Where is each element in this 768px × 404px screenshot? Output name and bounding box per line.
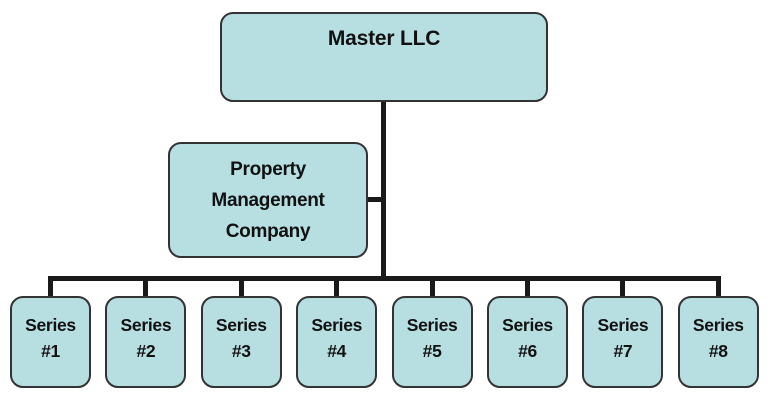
- connector-stub-series-1: [48, 276, 53, 298]
- connector-stub-series-8: [716, 276, 721, 298]
- node-master-llc-label: Master LLC: [328, 14, 440, 50]
- connector-stub-series-3: [239, 276, 244, 298]
- node-property-management-company[interactable]: PropertyManagementCompany: [168, 142, 368, 258]
- node-property-management-company-label: PropertyManagementCompany: [211, 154, 324, 247]
- connector-stub-series-6: [525, 276, 530, 298]
- node-series-1-label: Series#1: [25, 298, 76, 364]
- org-chart-canvas: Master LLC PropertyManagementCompany Ser…: [0, 0, 768, 404]
- node-series-7[interactable]: Series#7: [582, 296, 663, 388]
- node-series-3-label: Series#3: [216, 298, 267, 364]
- node-series-1[interactable]: Series#1: [10, 296, 91, 388]
- connector-stub-series-4: [334, 276, 339, 298]
- connector-trunk-vertical: [381, 100, 386, 281]
- connector-stub-series-7: [620, 276, 625, 298]
- connector-stub-series-2: [143, 276, 148, 298]
- node-series-7-label: Series#7: [598, 298, 649, 364]
- node-series-6-label: Series#6: [502, 298, 553, 364]
- node-series-2-label: Series#2: [121, 298, 172, 364]
- node-series-8-label: Series#8: [693, 298, 744, 364]
- connector-stub-series-5: [430, 276, 435, 298]
- node-series-5-label: Series#5: [407, 298, 458, 364]
- node-series-4[interactable]: Series#4: [296, 296, 377, 388]
- node-series-2[interactable]: Series#2: [105, 296, 186, 388]
- node-series-4-label: Series#4: [311, 298, 362, 364]
- node-series-3[interactable]: Series#3: [201, 296, 282, 388]
- connector-series-bus: [49, 276, 717, 281]
- node-series-8[interactable]: Series#8: [678, 296, 759, 388]
- node-series-6[interactable]: Series#6: [487, 296, 568, 388]
- node-master-llc[interactable]: Master LLC: [220, 12, 548, 102]
- node-series-5[interactable]: Series#5: [392, 296, 473, 388]
- connector-property-management-stub: [366, 197, 384, 202]
